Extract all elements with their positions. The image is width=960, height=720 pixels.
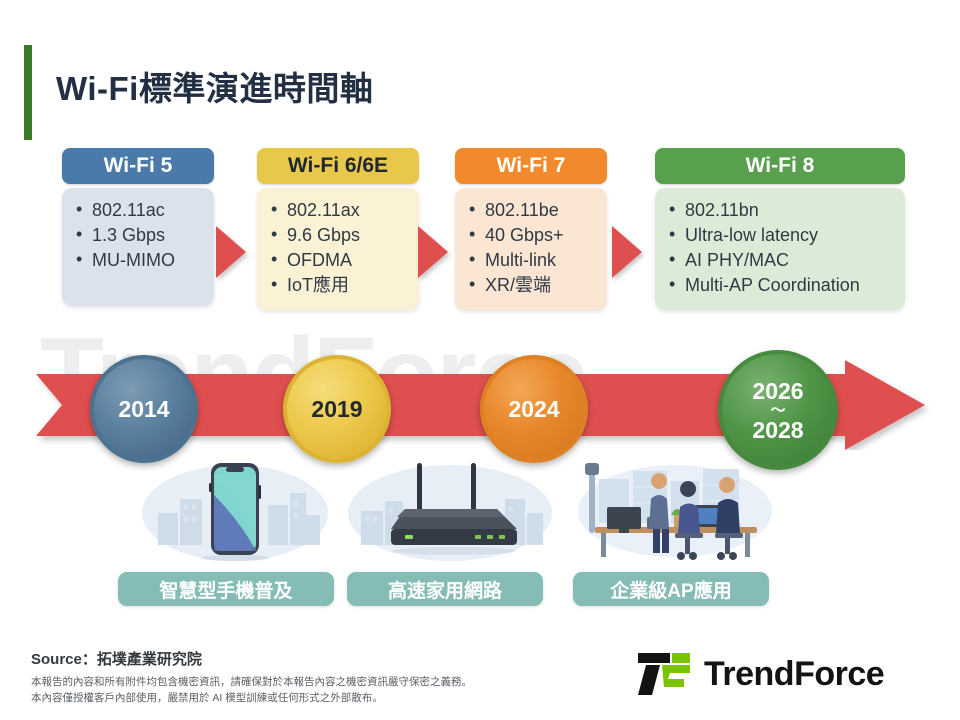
card-wifi-8[interactable]: Wi-Fi 8 802.11bn Ultra-low latency AI PH…	[655, 148, 905, 310]
list-item: 40 Gbps+	[469, 223, 599, 248]
year-label-end: 2028	[752, 417, 803, 443]
year-range-separator: ～	[752, 404, 803, 417]
timeline-node-2026-2028[interactable]: 2026 ～ 2028	[718, 350, 838, 470]
card-body-wifi-5: 802.11ac 1.3 Gbps MU-MIMO	[62, 188, 214, 306]
card-header-wifi-5: Wi-Fi 5	[62, 148, 214, 184]
card-wifi-5[interactable]: Wi-Fi 5 802.11ac 1.3 Gbps MU-MIMO	[62, 148, 214, 306]
card-body-wifi-7: 802.11be 40 Gbps+ Multi-link XR/雲端	[455, 188, 607, 310]
disclaimer-line-1: 本報告的內容和所有附件均包含機密資訊，請確保對於本報告內容之機密資訊嚴守保密之義…	[31, 674, 472, 690]
pill-smartphone[interactable]: 智慧型手機普及	[118, 572, 334, 606]
wifi-router-illustration	[345, 455, 555, 565]
enterprise-office-illustration	[575, 455, 775, 565]
list-item: 9.6 Gbps	[271, 223, 411, 248]
timeline-node-2019[interactable]: 2019	[283, 355, 391, 463]
pill-enterprise-ap[interactable]: 企業級AP應用	[573, 572, 769, 606]
list-item: 1.3 Gbps	[76, 223, 206, 248]
list-item: 802.11bn	[669, 198, 897, 223]
year-label: 2024	[508, 396, 559, 422]
year-label: 2014	[118, 396, 169, 422]
list-item: Multi-link	[469, 248, 599, 273]
list-item: Ultra-low latency	[669, 223, 897, 248]
chevron-right-icon	[216, 226, 246, 278]
pill-label: 高速家用網路	[388, 576, 502, 603]
list-item: XR/雲端	[469, 273, 599, 298]
chevron-right-icon	[612, 226, 642, 278]
title-accent-bar	[24, 45, 32, 140]
page-title: Wi-Fi標準演進時間軸	[56, 62, 373, 110]
chevron-right-icon	[418, 226, 448, 278]
disclaimer-text: 本報告的內容和所有附件均包含機密資訊，請確保對於本報告內容之機密資訊嚴守保密之義…	[31, 674, 472, 706]
card-header-wifi-8: Wi-Fi 8	[655, 148, 905, 184]
year-label-start: 2026	[752, 378, 803, 404]
pill-label: 企業級AP應用	[610, 576, 731, 603]
smartphone-illustration	[140, 455, 330, 565]
list-item: Multi-AP Coordination	[669, 273, 897, 298]
pill-label: 智慧型手機普及	[159, 576, 292, 603]
trendforce-logo: TrendForce	[636, 648, 936, 700]
timeline-node-2014[interactable]: 2014	[90, 355, 198, 463]
year-label: 2019	[311, 396, 362, 422]
list-item: IoT應用	[271, 273, 411, 298]
disclaimer-line-2: 本內容僅授權客戶內部使用，嚴禁用於 AI 模型訓練或任何形式之外部散布。	[31, 690, 472, 706]
list-item: OFDMA	[271, 248, 411, 273]
card-body-wifi-8: 802.11bn Ultra-low latency AI PHY/MAC Mu…	[655, 188, 905, 310]
list-item: AI PHY/MAC	[669, 248, 897, 273]
list-item: 802.11ac	[76, 198, 206, 223]
card-body-wifi-6-6e: 802.11ax 9.6 Gbps OFDMA IoT應用	[257, 188, 419, 310]
timeline-node-2024[interactable]: 2024	[480, 355, 588, 463]
card-header-wifi-6-6e: Wi-Fi 6/6E	[257, 148, 419, 184]
card-wifi-6-6e[interactable]: Wi-Fi 6/6E 802.11ax 9.6 Gbps OFDMA IoT應用	[257, 148, 419, 310]
trendforce-wordmark: TrendForce	[704, 655, 884, 694]
slide-root: TrendForce Wi-Fi標準演進時間軸 Wi-Fi 5 802.11ac…	[0, 0, 960, 720]
list-item: 802.11be	[469, 198, 599, 223]
trendforce-mark-icon	[636, 651, 692, 697]
pill-home-network[interactable]: 高速家用網路	[347, 572, 543, 606]
card-wifi-7[interactable]: Wi-Fi 7 802.11be 40 Gbps+ Multi-link XR/…	[455, 148, 607, 310]
standards-card-row: Wi-Fi 5 802.11ac 1.3 Gbps MU-MIMO Wi-Fi …	[0, 148, 960, 338]
list-item: MU-MIMO	[76, 248, 206, 273]
source-label: Source：拓墣產業研究院	[31, 648, 202, 669]
card-header-wifi-7: Wi-Fi 7	[455, 148, 607, 184]
list-item: 802.11ax	[271, 198, 411, 223]
